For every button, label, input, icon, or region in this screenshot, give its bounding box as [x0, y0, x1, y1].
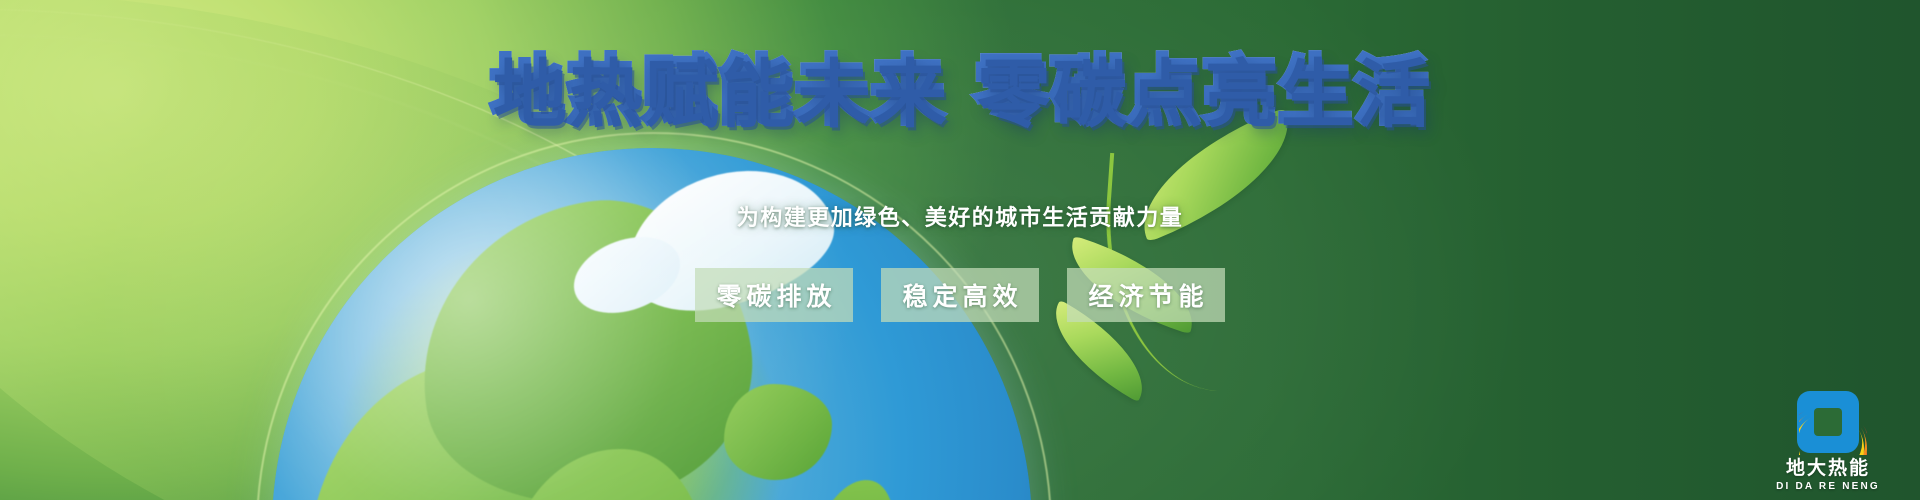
feature-tag-economical[interactable]: 经济节能: [1067, 268, 1225, 322]
promotional-banner: 地热赋能未来 零碳点亮生活 为构建更加绿色、美好的城市生活贡献力量 零碳排放 稳…: [0, 0, 1920, 500]
logo-name-pinyin: DI DA RE NENG: [1776, 481, 1880, 492]
feature-tag-zero-carbon[interactable]: 零碳排放: [695, 268, 853, 322]
feature-tag-list: 零碳排放 稳定高效 经济节能: [0, 268, 1920, 322]
logo-rainbow-icon: [1799, 393, 1867, 455]
banner-subtitle: 为构建更加绿色、美好的城市生活贡献力量: [0, 200, 1920, 232]
logo-name-chinese: 地大热能: [1786, 458, 1870, 479]
feature-tag-stable-efficient[interactable]: 稳定高效: [881, 268, 1039, 322]
banner-title: 地热赋能未来 零碳点亮生活: [0, 52, 1920, 132]
company-logo[interactable]: 地大热能 DI DA RE NENG: [1764, 391, 1892, 492]
logo-mark-icon: [1797, 391, 1859, 453]
banner-title-text: 地热赋能未来 零碳点亮生活: [490, 48, 1430, 134]
